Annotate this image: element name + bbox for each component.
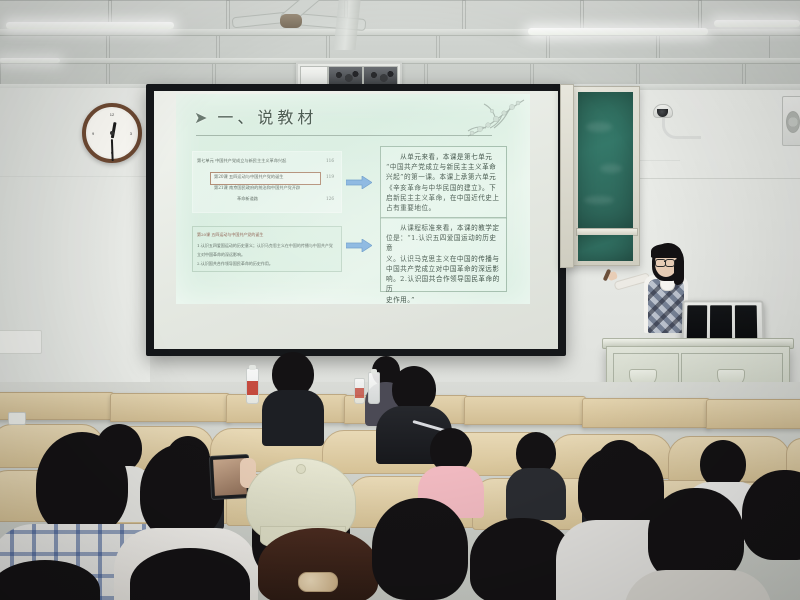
water-bottle	[354, 378, 365, 404]
textbox-line: 义。认识马克思主义在中国的传播与	[386, 254, 501, 264]
camera-lens-icon	[657, 109, 668, 117]
chalkboard-left-panel	[560, 84, 574, 268]
toc-line: 第七单元 中国共产党成立与新民主主义革命兴起	[197, 158, 286, 164]
wall-outlet	[8, 412, 26, 425]
textbox-line: 响。2.认识国共合作领导国民革命的历	[386, 274, 501, 294]
toc-page-number: 119	[326, 174, 334, 179]
fluorescent-light	[0, 58, 60, 63]
textbox-line: 从单元来看，本课是第七单元	[386, 152, 501, 162]
goals-line: 立对中国革命的深远影响。	[197, 252, 245, 258]
textbox-line: 启新民主主义革命，在中国近代史上	[386, 193, 501, 203]
plum-blossom-icon	[450, 98, 526, 144]
lesson-goals-box: 第20课 五四运动与中国共产党的诞生 1.认识五四爱国运动的历史意义；认识马克思…	[192, 226, 342, 272]
projection-screen-frame: ➤一、说教材	[146, 84, 566, 356]
slide-title: ➤一、说教材	[194, 104, 317, 128]
toc-line: 革命新道路	[237, 196, 258, 202]
arrow-right-icon	[346, 239, 372, 252]
fluorescent-light	[714, 20, 800, 27]
curriculum-standard-box: 从课程标准来看，本课的教学定 位是：“1.认识五四爱国运动的历史意 义。认识马克…	[380, 217, 507, 292]
projection-screen-surface: ➤一、说教材	[154, 91, 558, 349]
textbox-line: 史作用。”	[386, 295, 501, 304]
goals-heading: 第20课 五四运动与中国共产党的诞生	[197, 232, 263, 238]
wall-sign	[0, 330, 42, 354]
textbox-line: 位是：“1.认识五四爱国运动的历史意	[386, 233, 501, 253]
cap-button-icon	[296, 464, 306, 474]
textbox-line: 占有重要地位。	[386, 203, 501, 213]
fluorescent-light	[528, 28, 708, 35]
arrow-right-icon	[346, 176, 372, 189]
dome-security-camera	[653, 104, 673, 118]
textbox-line: 《辛亥革命与中华民国的建立》。下	[386, 183, 501, 193]
unit-analysis-box: 从单元来看，本课是第七单元 “中国共产党成立与新民主主义革命 兴起”的第一课。本…	[380, 146, 507, 219]
green-chalkboard	[572, 86, 640, 266]
wall-speaker	[782, 96, 800, 146]
toc-line: 第21课 南京国民政府的统治和中国共产党开辟	[214, 185, 300, 191]
wall-clock: 12 3 6 9	[82, 103, 142, 163]
title-divider	[196, 135, 492, 136]
toc-page-number: 116	[326, 158, 334, 163]
water-bottle	[246, 368, 259, 404]
textbox-line: 兴起”的第一课。本课上承第六单元	[386, 172, 501, 182]
textbox-line: “中国共产党成立与新民主主义革命	[386, 162, 501, 172]
goals-line: 2.认识国共合作领导国民革命的历史作用。	[197, 261, 273, 267]
textbox-line: 从课程标准来看，本课的教学定	[386, 223, 501, 233]
water-bottle	[368, 372, 380, 404]
slide-title-text: 一、说教材	[217, 108, 317, 127]
textbox-line: 中国共产党成立对中国革命的深远影	[386, 264, 501, 274]
goals-line: 1.认识五四爱国运动的历史意义；认识马克思主义在中国的传播与中国共产党	[197, 243, 333, 249]
presentation-slide: ➤一、说教材	[176, 94, 530, 304]
title-bullet-icon: ➤	[194, 108, 211, 127]
teacher-hair-side	[674, 259, 684, 285]
toc-page-number: 126	[326, 196, 334, 201]
classroom-scene: 12 3 6 9 ➤一、说教材	[0, 0, 800, 600]
fluorescent-light	[6, 22, 174, 29]
hair-scrunchie	[298, 572, 338, 592]
textbook-toc-box: 第七单元 中国共产党成立与新民主主义革命兴起 第20课 五四运动与中国共产党的诞…	[192, 151, 342, 213]
toc-line: 第20课 五四运动与中国共产党的诞生	[214, 174, 283, 180]
